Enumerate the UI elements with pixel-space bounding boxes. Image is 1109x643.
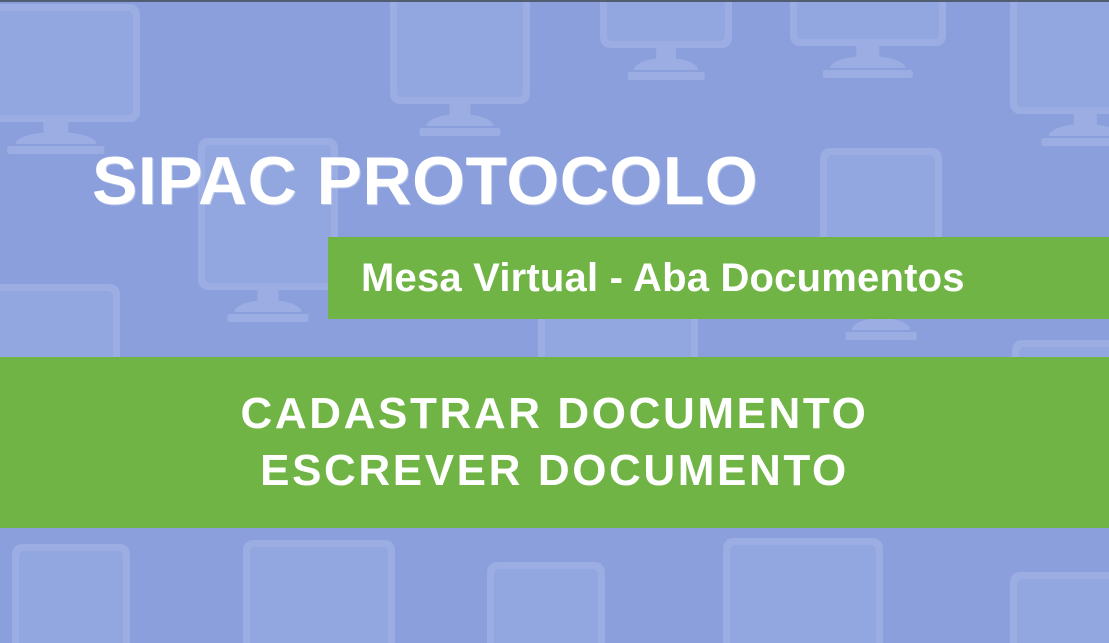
subtitle-banner: Mesa Virtual - Aba Documentos xyxy=(328,237,1109,319)
monitor-stand-neck xyxy=(856,46,879,68)
monitor-stand-neck xyxy=(1074,114,1097,136)
monitor-frame xyxy=(723,538,883,643)
monitor-stand-base xyxy=(419,128,500,136)
monitor-stand-base xyxy=(1042,138,1109,146)
monitor-screen xyxy=(1017,0,1109,107)
monitor-stand-neck xyxy=(258,290,279,312)
monitor-screen xyxy=(0,11,133,115)
band-line-2: ESCREVER DOCUMENTO xyxy=(260,443,849,499)
monitor-screen xyxy=(607,0,725,41)
monitor-screen xyxy=(19,551,123,643)
monitor-icon xyxy=(1010,572,1109,643)
monitor-frame xyxy=(0,4,140,122)
page-title: SIPAC PROTOCOLO xyxy=(92,147,758,215)
monitor-icon xyxy=(600,0,732,82)
monitor-stand-base xyxy=(628,72,705,80)
monitor-stand-base xyxy=(823,70,913,78)
background-monitor-pattern xyxy=(0,0,1109,643)
monitor-frame xyxy=(12,544,130,643)
monitor-stand-base xyxy=(846,332,917,340)
monitor-icon xyxy=(390,0,530,138)
band-line-1: CADASTRAR DOCUMENTO xyxy=(241,386,869,442)
monitor-stand-base xyxy=(7,146,104,154)
monitor-frame xyxy=(487,562,605,643)
monitor-stand-base xyxy=(227,314,308,322)
monitor-stand-neck xyxy=(450,104,471,126)
monitor-screen xyxy=(797,0,939,39)
top-edge-line xyxy=(0,0,1109,2)
monitor-screen xyxy=(1017,579,1109,643)
monitor-screen xyxy=(250,547,388,643)
monitor-frame xyxy=(243,540,395,643)
slide-canvas: SIPAC PROTOCOLO Mesa Virtual - Aba Docum… xyxy=(0,0,1109,643)
monitor-stand-neck xyxy=(43,122,68,144)
monitor-icon xyxy=(487,562,605,643)
monitor-screen xyxy=(397,0,523,97)
monitor-screen xyxy=(730,545,876,643)
main-green-band: CADASTRAR DOCUMENTO ESCREVER DOCUMENTO xyxy=(0,357,1109,528)
monitor-frame xyxy=(1010,572,1109,643)
monitor-frame xyxy=(790,0,946,46)
monitor-icon xyxy=(1010,0,1109,148)
monitor-frame xyxy=(1010,0,1109,114)
monitor-frame xyxy=(390,0,530,104)
monitor-frame xyxy=(600,0,732,48)
monitor-icon xyxy=(12,544,130,643)
monitor-icon xyxy=(723,538,883,643)
subtitle-text: Mesa Virtual - Aba Documentos xyxy=(361,258,965,298)
monitor-icon xyxy=(243,540,395,643)
monitor-icon xyxy=(790,0,946,80)
monitor-screen xyxy=(494,569,598,643)
monitor-stand-neck xyxy=(656,48,676,70)
monitor-icon xyxy=(0,4,140,156)
